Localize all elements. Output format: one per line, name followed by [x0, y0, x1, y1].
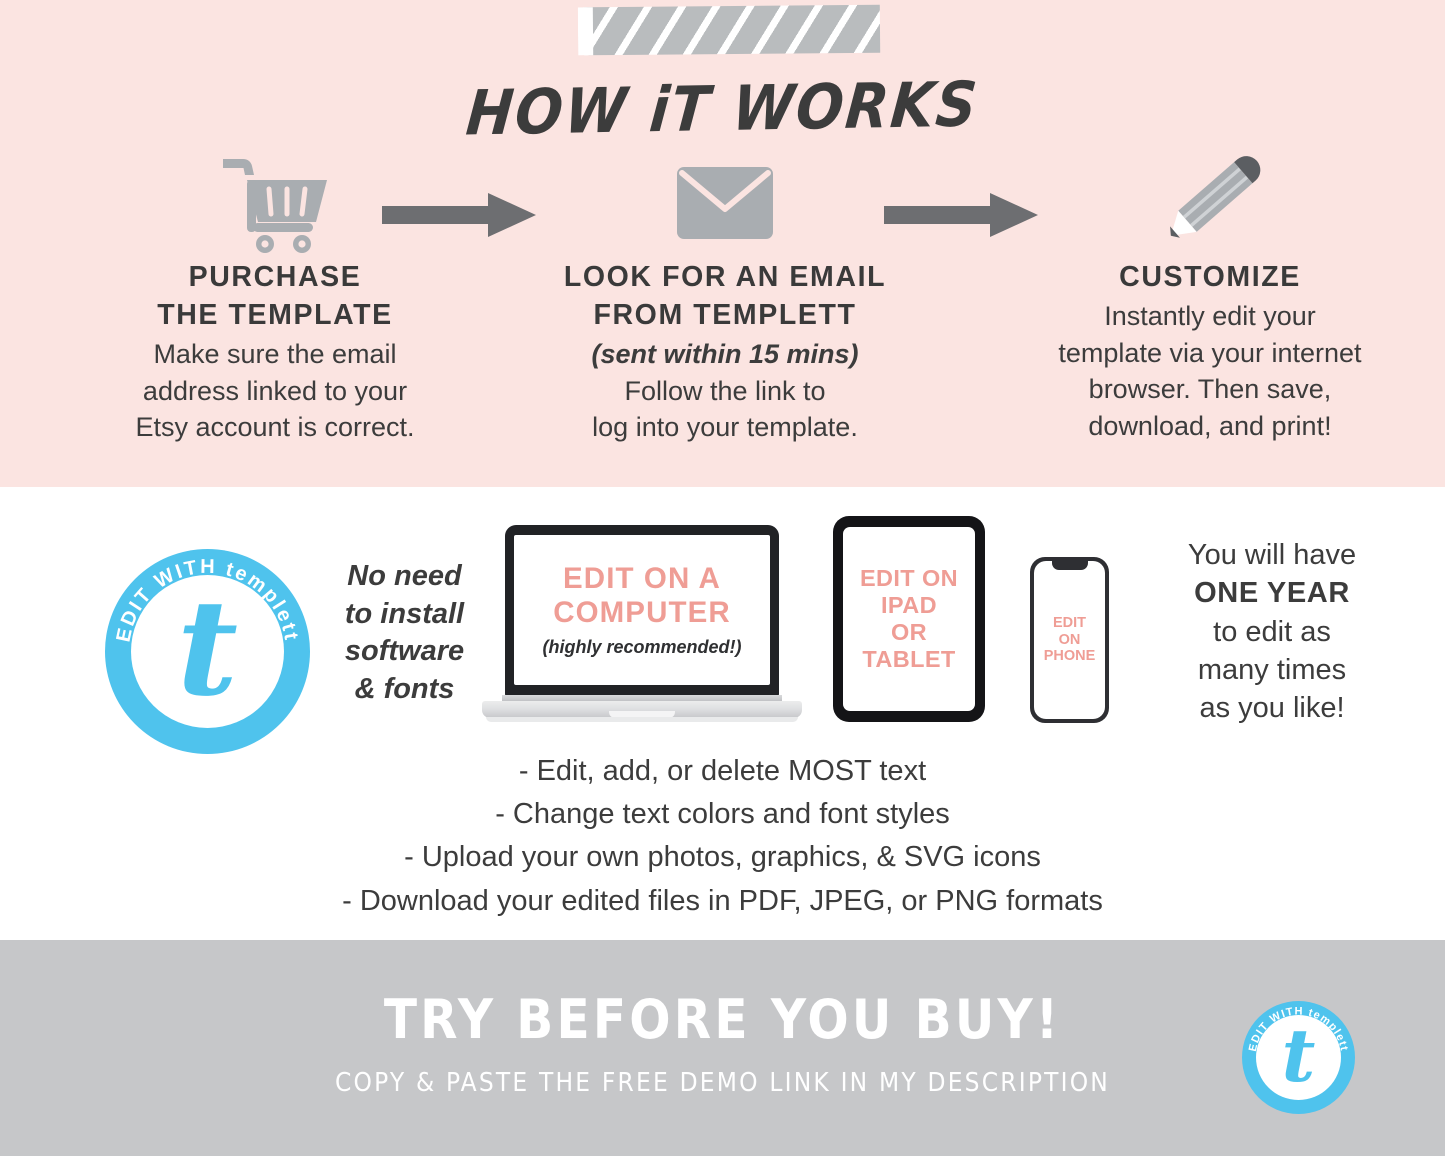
- list-item: - Change text colors and font styles: [0, 793, 1445, 836]
- badge-bottom-text: EDITABLE TEMPLATE: [1255, 1060, 1343, 1102]
- step-body-line: Follow the link to: [545, 373, 905, 410]
- step-body: (sent within 15 mins) Follow the link to…: [545, 336, 905, 446]
- step-body-line: browser. Then save,: [1010, 371, 1410, 408]
- badge-bottom-text: EDITABLE TEMPLATE: [129, 654, 286, 730]
- list-item: - Edit, add, or delete MOST text: [0, 750, 1445, 793]
- one-year-text: You will have ONE YEAR to edit as many t…: [1126, 536, 1418, 727]
- phone-screen-line: PHONE: [1044, 648, 1096, 665]
- step-body-line: Instantly edit your: [1010, 298, 1410, 335]
- svg-text:EDITABLE TEMPLATE: EDITABLE TEMPLATE: [129, 654, 286, 730]
- no-need-line: & fonts: [332, 671, 477, 709]
- laptop-screen-note: (highly recommended!): [542, 637, 741, 658]
- laptop-screen-line: EDIT ON A: [553, 562, 731, 596]
- step-heading-line: THE TEMPLATE: [95, 297, 455, 335]
- one-year-highlight: ONE YEAR: [1126, 574, 1418, 612]
- step-body-italic: (sent within 15 mins): [545, 336, 905, 373]
- arrow-right-icon: [884, 193, 1039, 237]
- one-year-line: You will have: [1126, 536, 1418, 574]
- no-need-line: to install: [332, 596, 477, 634]
- phone-screen-heading: EDIT ON PHONE: [1044, 615, 1096, 665]
- one-year-line: many times: [1126, 651, 1418, 689]
- tablet-screen: EDIT ON IPAD OR TABLET: [843, 527, 975, 711]
- templett-badge-icon: t EDIT WITH templett EDITABLE TEMPLATE: [1242, 1001, 1355, 1114]
- badge-top-text: EDIT WITH templett: [1247, 1005, 1350, 1052]
- step-heading: CUSTOMIZE: [1010, 259, 1410, 297]
- one-year-line: to edit as: [1126, 613, 1418, 651]
- svg-text:EDITABLE TEMPLATE: EDITABLE TEMPLATE: [1255, 1060, 1343, 1102]
- step-body: Make sure the email address linked to yo…: [95, 336, 455, 446]
- laptop-screen: EDIT ON A COMPUTER (highly recommended!): [514, 535, 770, 685]
- step-body-line: download, and print!: [1010, 408, 1410, 445]
- step-heading: PURCHASE THE TEMPLATE: [95, 259, 455, 335]
- no-need-text: No need to install software & fonts: [332, 558, 477, 709]
- templett-badge-icon: t EDIT WITH templett EDITABLE TEMPLATE: [105, 549, 310, 754]
- list-item: - Upload your own photos, graphics, & SV…: [0, 836, 1445, 879]
- tablet-screen-line: OR: [860, 619, 958, 646]
- phone-device: EDIT ON PHONE: [1030, 557, 1109, 723]
- step-heading: LOOK FOR AN EMAIL FROM TEMPLETT: [545, 259, 905, 335]
- svg-text:EDIT WITH templett: EDIT WITH templett: [1247, 1005, 1350, 1052]
- svg-text:EDIT WITH templett: EDIT WITH templett: [112, 556, 302, 644]
- steps-row: PURCHASE THE TEMPLATE Make sure the emai…: [0, 150, 1445, 480]
- step-heading-line: CUSTOMIZE: [1010, 259, 1410, 297]
- no-need-line: software: [332, 633, 477, 671]
- phone-screen-line: ON: [1044, 632, 1096, 649]
- tablet-device: EDIT ON IPAD OR TABLET: [833, 516, 985, 722]
- tablet-screen-heading: EDIT ON IPAD OR TABLET: [860, 565, 958, 672]
- laptop-shadow: [486, 717, 798, 722]
- step-heading-line: FROM TEMPLETT: [545, 297, 905, 335]
- step-heading-line: LOOK FOR AN EMAIL: [545, 259, 905, 297]
- one-year-line: as you like!: [1126, 689, 1418, 727]
- arrow-right-icon: [382, 193, 537, 237]
- step-customize: CUSTOMIZE Instantly edit your template v…: [1010, 150, 1410, 445]
- step-look-for-email: LOOK FOR AN EMAIL FROM TEMPLETT (sent wi…: [545, 150, 905, 446]
- laptop-lid: EDIT ON A COMPUTER (highly recommended!): [505, 525, 779, 697]
- step-heading-line: PURCHASE: [95, 259, 455, 297]
- feature-list: - Edit, add, or delete MOST text - Chang…: [0, 750, 1445, 923]
- step-body: Instantly edit your template via your in…: [1010, 298, 1410, 445]
- pencil-icon: [1010, 150, 1410, 255]
- list-item: - Download your edited files in PDF, JPE…: [0, 880, 1445, 923]
- footer-title: TRY BEFORE YOU BUY!: [0, 988, 1445, 1051]
- phone-screen-line: EDIT: [1044, 615, 1096, 632]
- laptop-device: EDIT ON A COMPUTER (highly recommended!): [482, 525, 802, 730]
- tablet-screen-line: EDIT ON: [860, 565, 958, 592]
- step-body-line: log into your template.: [545, 409, 905, 446]
- washi-tape-icon: [584, 5, 880, 56]
- phone-screen: EDIT ON PHONE: [1034, 561, 1105, 719]
- step-body-line: Etsy account is correct.: [95, 409, 455, 446]
- step-body-line: template via your internet: [1010, 335, 1410, 372]
- badge-top-text: EDIT WITH templett: [112, 556, 302, 644]
- envelope-icon: [545, 150, 905, 255]
- step-body-line: Make sure the email: [95, 336, 455, 373]
- footer-subtitle: COPY & PASTE THE FREE DEMO LINK IN MY DE…: [0, 1068, 1445, 1098]
- laptop-screen-heading: EDIT ON A COMPUTER: [553, 562, 731, 629]
- no-need-line: No need: [332, 558, 477, 596]
- step-body-line: address linked to your: [95, 373, 455, 410]
- tablet-screen-line: IPAD: [860, 592, 958, 619]
- phone-notch: [1052, 561, 1088, 570]
- laptop-screen-line: COMPUTER: [553, 596, 731, 630]
- tablet-screen-line: TABLET: [860, 646, 958, 673]
